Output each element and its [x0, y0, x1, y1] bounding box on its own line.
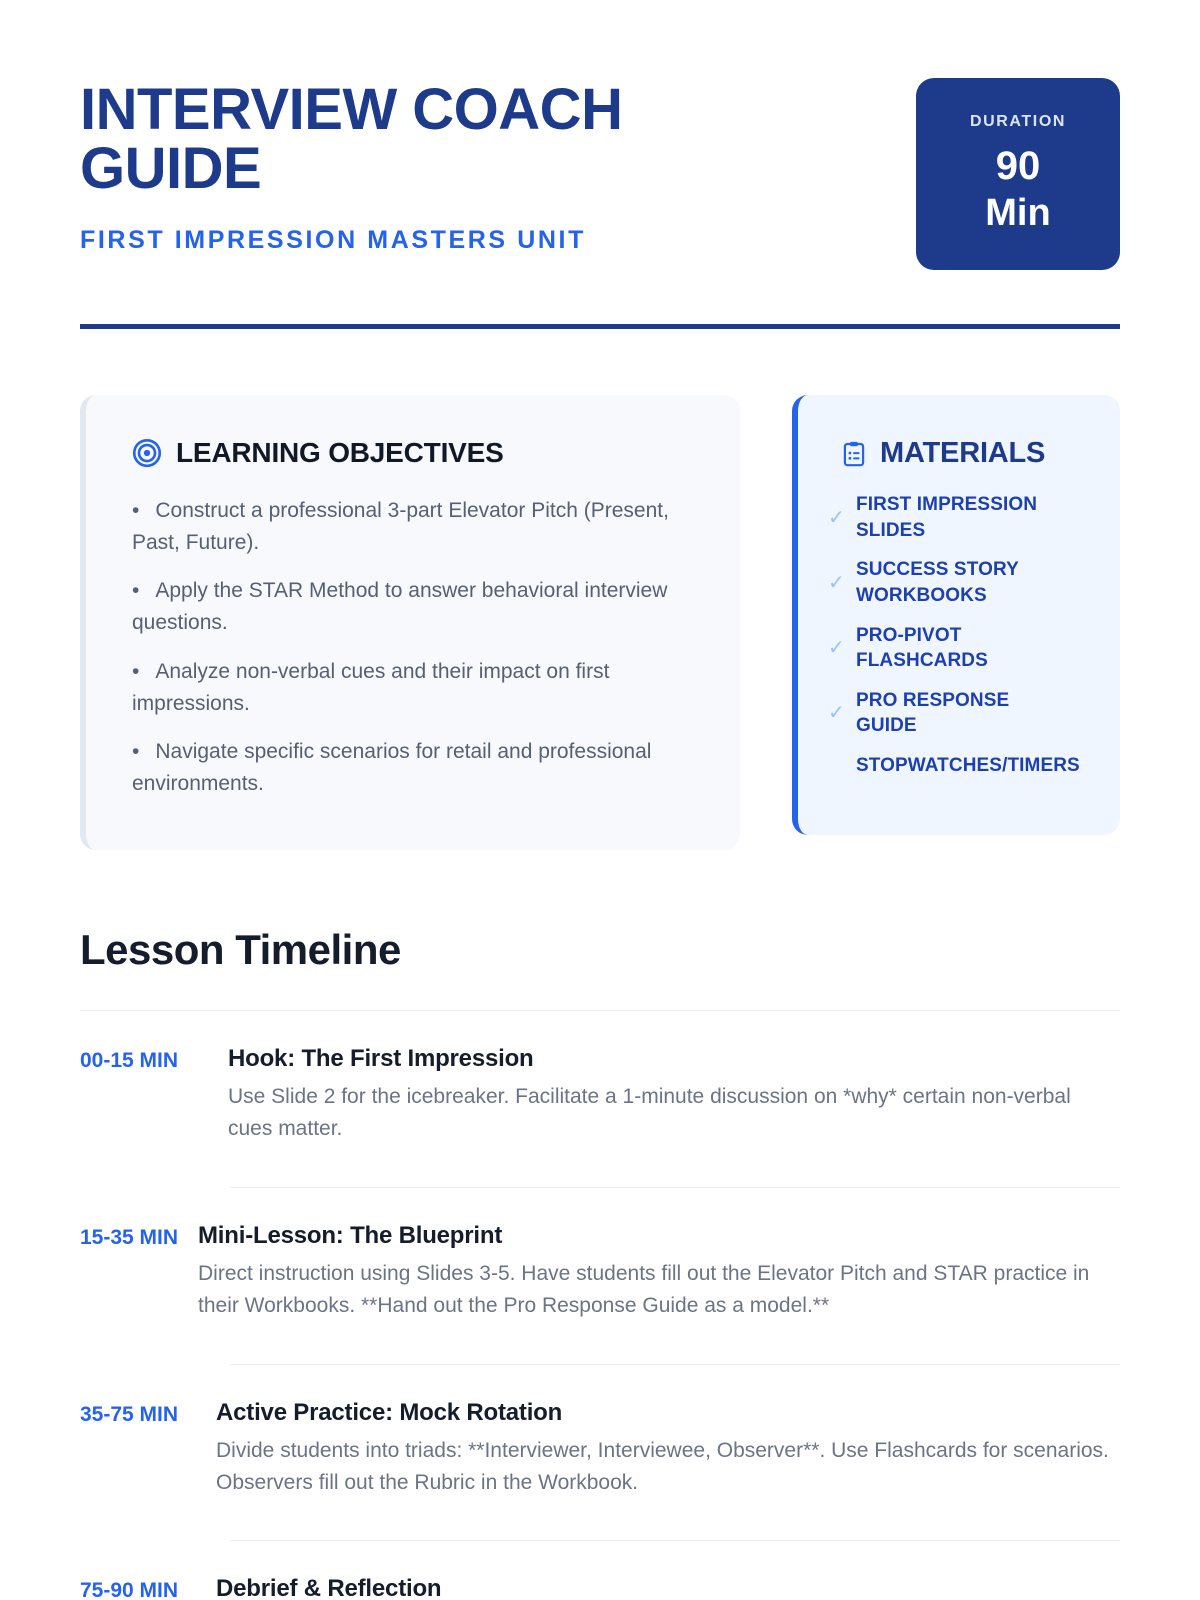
timeline-row: 15-35 MIN Mini-Lesson: The Blueprint Dir…	[80, 1188, 1120, 1328]
learning-objectives-card: LEARNING OBJECTIVES •Construct a profess…	[80, 395, 740, 850]
objective-item: •Navigate specific scenarios for retail …	[132, 736, 704, 800]
duration-value: 90	[996, 141, 1041, 191]
check-icon: ✓	[828, 703, 846, 723]
check-icon: ✓	[828, 638, 846, 658]
timeline-description: Use Slide 2 for the icebreaker. Facilita…	[228, 1081, 1120, 1145]
target-icon	[132, 438, 162, 468]
page-header: INTERVIEW COACH GUIDE FIRST IMPRESSION M…	[80, 0, 1120, 270]
material-label: STOPWATCHES/TIMERS	[856, 753, 1080, 779]
materials-card: MATERIALS ✓ FIRST IMPRESSION SLIDES ✓ SU…	[792, 395, 1120, 835]
bullet-glyph: •	[132, 740, 155, 763]
duration-label: DURATION	[970, 113, 1066, 131]
material-label: FIRST IMPRESSION SLIDES	[856, 492, 1037, 543]
timeline-time: 75-90 MIN	[80, 1575, 216, 1600]
timeline-row: 35-75 MIN Active Practice: Mock Rotation…	[80, 1365, 1120, 1505]
timeline-time: 00-15 MIN	[80, 1045, 228, 1145]
bullet-glyph: •	[132, 579, 155, 602]
objective-text: Apply the STAR Method to answer behavior…	[132, 579, 667, 634]
material-label: PRO-PIVOT FLASHCARDS	[856, 623, 988, 674]
check-icon: ✓	[828, 508, 846, 528]
timeline-time: 15-35 MIN	[80, 1222, 198, 1322]
material-item: ✓ FIRST IMPRESSION SLIDES	[828, 492, 1112, 543]
timeline-description: Direct instruction using Slides 3-5. Hav…	[198, 1258, 1120, 1322]
timeline-heading: Active Practice: Mock Rotation	[216, 1399, 1120, 1427]
material-label: SUCCESS STORY WORKBOOKS	[856, 557, 1019, 608]
check-icon: ✓	[828, 573, 846, 593]
duration-badge: DURATION 90 Min	[916, 78, 1120, 270]
objective-item: •Construct a professional 3-part Elevato…	[132, 495, 704, 559]
materials-title: MATERIALS	[880, 437, 1045, 470]
duration-unit: Min	[985, 193, 1050, 235]
timeline-row: 75-90 MIN Debrief & Reflection Gather cl…	[80, 1541, 1120, 1600]
material-item: ✓ PRO RESPONSE GUIDE	[828, 688, 1112, 739]
info-cards-row: LEARNING OBJECTIVES •Construct a profess…	[80, 395, 1120, 850]
materials-header: MATERIALS	[828, 437, 1112, 470]
material-item: ✓ STOPWATCHES/TIMERS	[828, 753, 1112, 779]
objective-text: Navigate specific scenarios for retail a…	[132, 740, 651, 795]
page-subtitle: FIRST IMPRESSION MASTERS UNIT	[80, 226, 916, 255]
timeline-heading: Hook: The First Impression	[228, 1045, 1120, 1073]
header-text-group: INTERVIEW COACH GUIDE FIRST IMPRESSION M…	[80, 78, 916, 255]
timeline-content: Mini-Lesson: The Blueprint Direct instru…	[198, 1222, 1120, 1322]
timeline-content: Debrief & Reflection Gather class feedba…	[216, 1575, 1120, 1600]
material-item: ✓ PRO-PIVOT FLASHCARDS	[828, 623, 1112, 674]
page-title: INTERVIEW COACH GUIDE	[80, 80, 720, 198]
timeline-time: 35-75 MIN	[80, 1399, 216, 1499]
objective-item: •Analyze non-verbal cues and their impac…	[132, 656, 704, 720]
objective-item: •Apply the STAR Method to answer behavio…	[132, 575, 704, 639]
bullet-glyph: •	[132, 660, 155, 683]
clipboard-list-icon	[840, 440, 868, 468]
learning-objectives-title: LEARNING OBJECTIVES	[176, 437, 504, 469]
bullet-glyph: •	[132, 499, 155, 522]
timeline-heading: Debrief & Reflection	[216, 1575, 1120, 1600]
timeline-title: Lesson Timeline	[80, 926, 1120, 974]
lesson-timeline-section: Lesson Timeline 00-15 MIN Hook: The Firs…	[80, 926, 1120, 1600]
timeline-heading: Mini-Lesson: The Blueprint	[198, 1222, 1120, 1250]
timeline-description: Divide students into triads: **Interview…	[216, 1435, 1120, 1499]
timeline-content: Hook: The First Impression Use Slide 2 f…	[228, 1045, 1120, 1145]
objective-text: Analyze non-verbal cues and their impact…	[132, 660, 609, 715]
timeline-row: 00-15 MIN Hook: The First Impression Use…	[80, 1011, 1120, 1151]
timeline-content: Active Practice: Mock Rotation Divide st…	[216, 1399, 1120, 1499]
objective-text: Construct a professional 3-part Elevator…	[132, 499, 669, 554]
lesson-guide-page: INTERVIEW COACH GUIDE FIRST IMPRESSION M…	[0, 0, 1200, 1600]
material-item: ✓ SUCCESS STORY WORKBOOKS	[828, 557, 1112, 608]
learning-objectives-header: LEARNING OBJECTIVES	[132, 437, 704, 469]
material-label: PRO RESPONSE GUIDE	[856, 688, 1009, 739]
header-divider	[80, 324, 1120, 329]
